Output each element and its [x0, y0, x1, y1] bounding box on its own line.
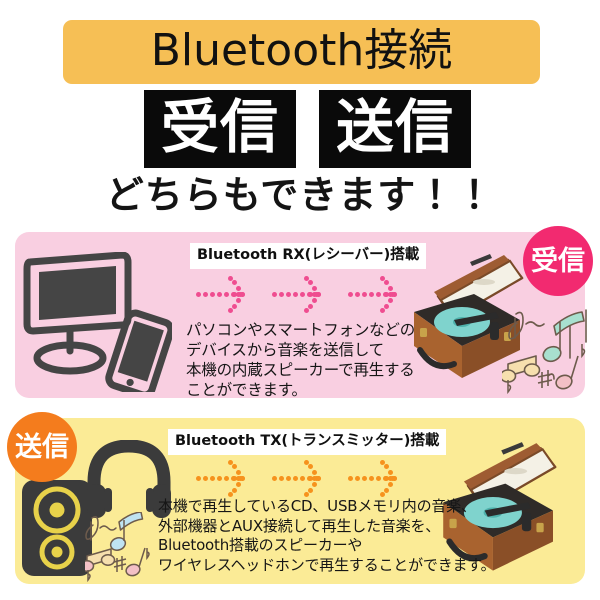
- dotted-arrows-tx: [196, 460, 410, 496]
- body-text-tx: 本機で再生しているCD、USBメモリ内の音楽、 外部機器とAUX接続して再生した…: [158, 497, 495, 575]
- tagline: どちらもできます！！: [0, 176, 600, 214]
- title-banner: Bluetooth接続: [63, 20, 540, 84]
- keyword-box-send-label: 送信: [336, 98, 454, 156]
- badge-receive: 受信: [523, 226, 593, 296]
- header-section: Bluetooth接続 受信 送信 どちらもできます！！: [0, 0, 600, 228]
- source-devices-art-rx: [22, 252, 172, 396]
- music-notes-icon: [502, 306, 594, 394]
- music-notes-icon: [85, 512, 160, 584]
- arrow-right-icon: [348, 276, 410, 312]
- chip-label-rx: Bluetooth RX(レシーバー)搭載: [190, 243, 426, 269]
- music-notes-art-rx: [502, 306, 594, 398]
- arrow-right-icon: [196, 276, 258, 312]
- dotted-arrows-rx: [196, 276, 410, 312]
- arrow-right-icon: [272, 276, 334, 312]
- keyword-box-receive-label: 受信: [161, 98, 279, 156]
- keyword-box-receive: 受信: [144, 90, 296, 168]
- music-notes-art-tx: [85, 512, 160, 588]
- arrow-right-icon: [272, 460, 334, 496]
- arrow-right-icon: [196, 460, 258, 496]
- chip-label-tx: Bluetooth TX(トランスミッター)搭載: [168, 429, 446, 455]
- page-title: Bluetooth接続: [151, 29, 453, 73]
- keyword-box-send: 送信: [319, 90, 471, 168]
- badge-send: 送信: [7, 412, 77, 482]
- arrow-right-icon: [348, 460, 410, 496]
- monitor-and-smartphone-icon: [22, 252, 172, 392]
- body-text-rx: パソコンやスマートフォンなどの デバイスから音楽を送信して 本機の内蔵スピーカー…: [186, 320, 415, 401]
